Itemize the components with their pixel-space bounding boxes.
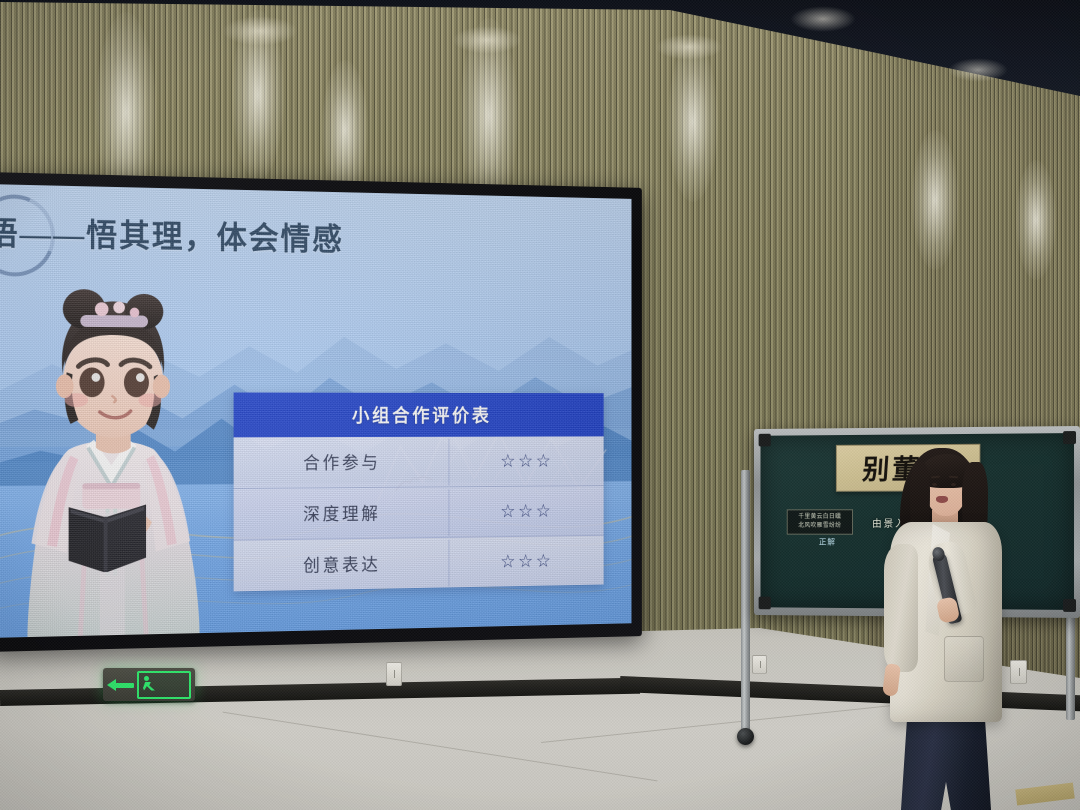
classroom-photo: 悟——悟其理，体会情感	[0, 0, 1080, 810]
wall-switch-plate[interactable]	[386, 662, 402, 686]
frame-corner	[1063, 599, 1076, 612]
table-row-stars: ☆☆☆	[448, 487, 604, 535]
table-row-label: 创意表达	[234, 538, 448, 592]
table-row-label: 深度理解	[234, 487, 448, 539]
frame-corner	[1063, 431, 1076, 444]
wall-switch-plate[interactable]	[752, 655, 767, 674]
table-row: 创意表达 ☆☆☆	[234, 536, 604, 592]
coat-pocket	[944, 636, 984, 682]
eye-left	[932, 483, 937, 486]
poem-line-2: 北风吹雁雪纷纷	[791, 522, 848, 531]
evaluation-table: 小组合作评价表 合作参与 ☆☆☆ 深度理解 ☆☆☆ 创意表达 ☆☆☆	[234, 393, 604, 592]
hanfu-girl-illustration	[10, 278, 232, 637]
evaluation-table-header: 小组合作评价表	[234, 393, 604, 438]
led-presentation-screen[interactable]: 悟——悟其理，体会情感	[0, 172, 642, 652]
table-row-stars: ☆☆☆	[448, 537, 604, 586]
sleeve-left	[884, 544, 918, 672]
poem-line-1: 千里黄云白日曛	[791, 513, 848, 522]
poem-card: 千里黄云白日曛 北风吹雁雪纷纷	[787, 509, 853, 534]
blackboard-caster-wheel	[737, 728, 754, 745]
screen-panel: 悟——悟其理，体会情感	[0, 184, 631, 638]
frame-corner	[759, 434, 771, 447]
table-row-stars: ☆☆☆	[448, 438, 604, 485]
emergency-exit-sign	[103, 668, 195, 701]
table-row-label: 合作参与	[234, 437, 448, 488]
table-row: 合作参与 ☆☆☆	[234, 436, 604, 489]
left-arrow-icon	[107, 677, 135, 693]
eye-right	[951, 483, 956, 486]
poem-card-caption: 正解	[819, 537, 836, 548]
frame-corner	[759, 597, 771, 610]
mouth	[936, 496, 948, 503]
teacher-figure	[876, 448, 1016, 810]
slide-title: 悟——悟其理，体会情感	[0, 208, 344, 260]
blackboard-stand-post	[741, 470, 750, 732]
table-row: 深度理解 ☆☆☆	[234, 486, 604, 541]
trousers	[898, 710, 994, 810]
slide-title-block: 悟——悟其理，体会情感	[0, 208, 344, 260]
running-man-icon	[137, 671, 191, 699]
